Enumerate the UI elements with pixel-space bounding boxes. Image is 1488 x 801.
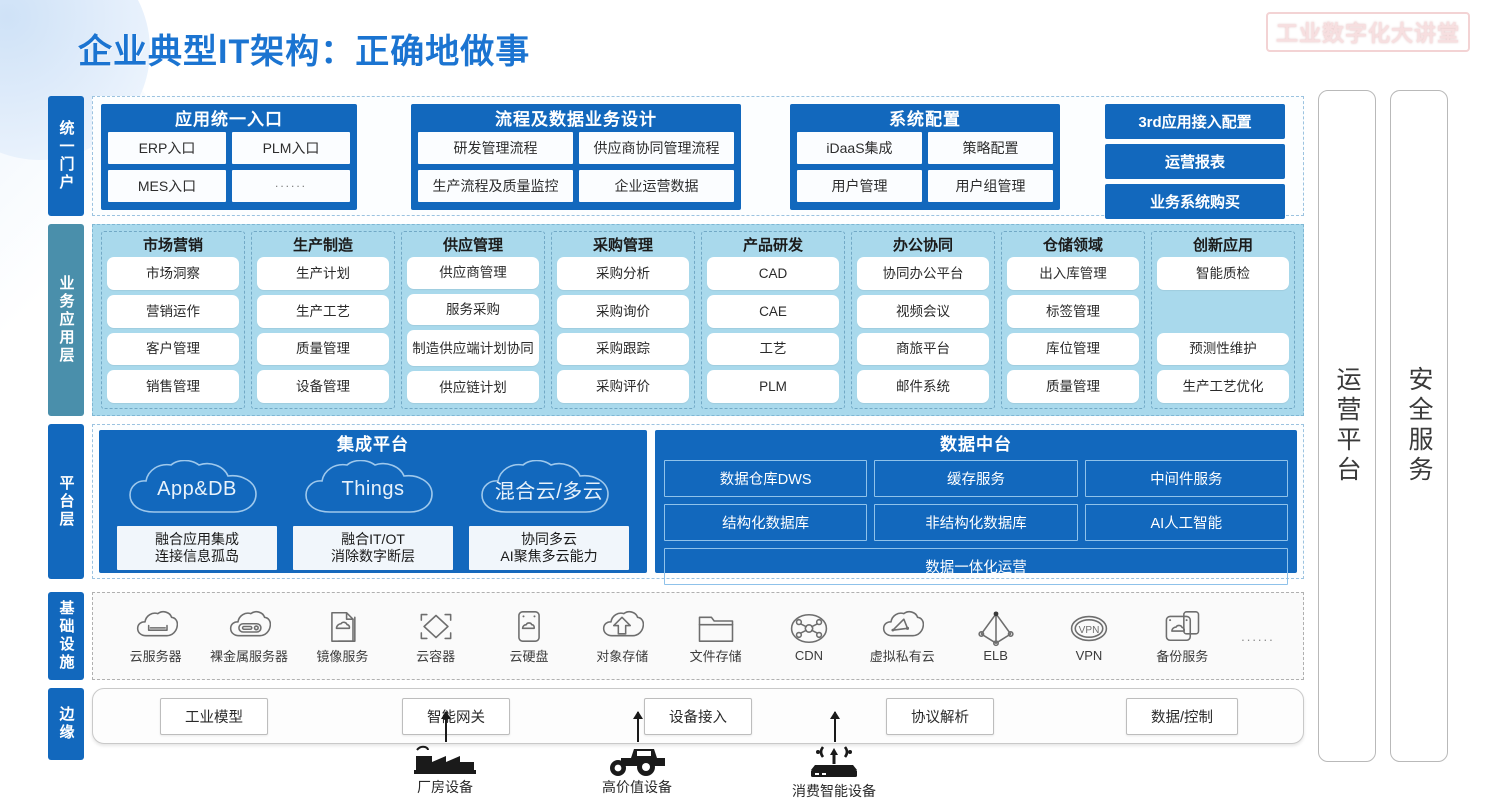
infra-item-label: 备份服务 [1156,646,1208,665]
integration-caption-line: 融合IT/OT [305,531,441,548]
portal-cell[interactable]: 用户管理 [797,170,922,202]
biz-item[interactable]: 服务采购 [407,294,539,326]
portal-card-1: 流程及数据业务设计研发管理流程供应商协同管理流程生产流程及质量监控企业运营数据 [411,104,741,210]
infra-item-1[interactable]: 裸金属服务器 [202,608,295,665]
infra-item-label: 文件存储 [690,646,742,665]
biz-item[interactable]: CAD [707,257,839,290]
biz-item-list: 出入库管理标签管理库位管理质量管理 [1007,257,1139,403]
factory-icon [412,744,478,776]
integration-caption-line: 融合应用集成 [129,531,265,548]
infra-more-dots: ...... [1229,629,1287,644]
third-party-item[interactable]: 3rd应用接入配置 [1105,104,1285,139]
infra-item-label: 裸金属服务器 [210,646,288,665]
infra-item-3[interactable]: 云容器 [389,608,482,665]
edge-box-3[interactable]: 协议解析 [886,698,994,735]
vpc-icon [880,608,924,645]
infra-item-4[interactable]: 云硬盘 [482,608,575,665]
data-hub-cell-2[interactable]: 中间件服务 [1085,460,1288,497]
biz-item[interactable]: 质量管理 [1007,370,1139,403]
edge-slot-0: 工业模型 [93,698,335,735]
cloud-1: Things [298,460,448,518]
edge-device-group: 厂房设备 高价值设备 消费智能设备 [92,744,1304,799]
biz-item[interactable]: CAE [707,295,839,328]
file-storage-icon [694,608,738,645]
cdn-icon [787,610,831,647]
infra-item-label: 云服务器 [130,646,182,665]
biz-item[interactable]: 市场洞察 [107,257,239,290]
device-label: 高价值设备 [602,777,672,797]
biz-item[interactable]: 销售管理 [107,370,239,403]
integration-caption-line: 消除数字断层 [305,548,441,565]
infra-item-10[interactable]: VPNVPN [1042,610,1135,663]
rail-item-1: 业务应用层 [48,224,84,416]
infra-item-label: VPN [1076,648,1103,663]
device-label: 厂房设备 [417,777,473,797]
svg-text:VPN: VPN [1079,625,1100,636]
biz-item[interactable]: 生产工艺优化 [1157,370,1289,403]
biz-item[interactable]: 生产工艺 [257,295,389,328]
third-party-item[interactable]: 业务系统购买 [1105,184,1285,219]
biz-item-list: 市场洞察营销运作客户管理销售管理 [107,257,239,403]
infrastructure-band: 云服务器裸金属服务器镜像服务云容器云硬盘对象存储文件存储CDN虚拟私有云ELBV… [92,592,1304,680]
biz-item[interactable]: 供应商管理 [407,257,539,289]
biz-item-list: 协同办公平台视频会议商旅平台邮件系统 [857,257,989,403]
biz-column-title: 市场营销 [107,235,239,257]
data-hub-cell-0[interactable]: 数据仓库DWS [664,460,867,497]
page-title: 企业典型IT架构：正确地做事 [78,24,530,73]
cloud-disk-icon [507,608,551,645]
cloud-2: 混合云/多云 [474,460,624,518]
biz-column-2: 供应管理供应商管理服务采购制造供应端计划协同供应链计划 [401,231,545,409]
biz-item[interactable]: 视频会议 [857,295,989,328]
portal-cell[interactable]: 生产流程及质量监控 [418,170,573,202]
biz-item[interactable]: 营销运作 [107,295,239,328]
integration-caption-1: 融合IT/OT消除数字断层 [293,526,453,570]
infra-item-8[interactable]: 虚拟私有云 [856,608,949,665]
biz-item-list: 采购分析采购询价采购跟踪采购评价 [557,257,689,403]
integration-platform-title: 集成平台 [99,430,647,460]
biz-item[interactable]: 邮件系统 [857,370,989,403]
data-hub-cell-1[interactable]: 缓存服务 [874,460,1077,497]
edge-slot-3: 协议解析 [819,698,1061,735]
business-layer-band: 市场营销市场洞察营销运作客户管理销售管理生产制造生产计划生产工艺质量管理设备管理… [92,224,1304,416]
infra-item-label: 镜像服务 [316,646,368,665]
data-hub-grid: 数据仓库DWS缓存服务中间件服务结构化数据库非结构化数据库AI人工智能数据一体化… [655,460,1297,585]
integration-caption-0: 融合应用集成连接信息孤岛 [117,526,277,570]
infra-item-11[interactable]: 备份服务 [1136,608,1229,665]
rail-item-0: 统一门户 [48,96,84,216]
data-hub-card: 数据中台 数据仓库DWS缓存服务中间件服务结构化数据库非结构化数据库AI人工智能… [655,430,1297,573]
biz-item[interactable]: 商旅平台 [857,333,989,366]
portal-card-grid: 研发管理流程供应商协同管理流程生产流程及质量监控企业运营数据 [418,132,734,202]
biz-column-0: 市场营销市场洞察营销运作客户管理销售管理 [101,231,245,409]
biz-item[interactable]: 采购询价 [557,295,689,328]
infra-item-7[interactable]: CDN [762,610,855,663]
biz-item[interactable]: 出入库管理 [1007,257,1139,290]
biz-column-title: 办公协同 [857,235,989,257]
infra-item-6[interactable]: 文件存储 [669,608,762,665]
biz-column-6: 仓储领域出入库管理标签管理库位管理质量管理 [1001,231,1145,409]
portal-cell[interactable]: 供应商协同管理流程 [579,132,734,164]
cloud-label: App&DB [157,478,237,501]
integration-caption-line: 协同多云 [481,531,617,548]
biz-item[interactable]: 供应链计划 [407,371,539,403]
biz-column-title: 供应管理 [407,235,539,257]
device-arrow-0 [445,712,447,742]
portal-cell[interactable]: 策略配置 [928,132,1053,164]
biz-column-title: 仓储领域 [1007,235,1139,257]
biz-column-3: 采购管理采购分析采购询价采购跟踪采购评价 [551,231,695,409]
cloud-label: Things [341,478,404,501]
data-hub-title: 数据中台 [655,430,1297,460]
biz-column-1: 生产制造生产计划生产工艺质量管理设备管理 [251,231,395,409]
infra-item-0[interactable]: 云服务器 [109,608,202,665]
biz-column-title: 产品研发 [707,235,839,257]
biz-column-4: 产品研发CADCAE工艺PLM [701,231,845,409]
rail-item-3: 基础设施 [48,592,84,680]
biz-item[interactable]: 客户管理 [107,333,239,366]
elb-icon [974,610,1018,647]
biz-column-5: 办公协同协同办公平台视频会议商旅平台邮件系统 [851,231,995,409]
cloud-label: 混合云/多云 [495,475,604,504]
image-service-icon [320,608,364,645]
portal-card-title: 流程及数据业务设计 [418,108,734,132]
cloud-container-icon [414,608,458,645]
router-icon [801,744,867,780]
brand-logo: 工业数字化大讲堂 [1266,12,1470,52]
tractor-icon [604,744,670,776]
portal-cell[interactable]: iDaaS集成 [797,132,922,164]
infra-item-label: 对象存储 [596,646,648,665]
edge-box-2[interactable]: 设备接入 [644,698,752,735]
infra-item-9[interactable]: ELB [949,610,1042,663]
biz-item[interactable]: 标签管理 [1007,295,1139,328]
portal-cell[interactable]: 研发管理流程 [418,132,573,164]
integration-platform-card: 集成平台 App&DBThings混合云/多云 融合应用集成连接信息孤岛融合IT… [99,430,647,573]
rail-item-2: 平台层 [48,424,84,579]
infra-item-label: 云容器 [416,646,455,665]
biz-item[interactable]: 采购评价 [557,370,689,403]
biz-item[interactable]: 智能质检 [1157,257,1289,290]
cloud-group: App&DBThings混合云/多云 [99,460,647,522]
vpn-icon: VPN [1067,610,1111,647]
biz-item[interactable]: 预测性维护 [1157,333,1289,366]
page-header: 企业典型IT架构：正确地做事 工业数字化大讲堂 [0,0,1488,88]
device-2: 消费智能设备 [759,744,909,801]
biz-item[interactable]: 工艺 [707,333,839,366]
platform-layer-band: 集成平台 App&DBThings混合云/多云 融合应用集成连接信息孤岛融合IT… [92,424,1304,579]
side-panel-security: 安全服务 [1390,90,1448,762]
third-party-column: 3rd应用接入配置运营报表业务系统购买 [1105,104,1285,210]
biz-column-title: 创新应用 [1157,235,1289,257]
portal-card-0: 应用统一入口ERP入口PLM入口MES入口...... [101,104,357,210]
edge-box-1[interactable]: 智能网关 [402,698,510,735]
device-0: 厂房设备 [370,744,520,797]
biz-item-list: 生产计划生产工艺质量管理设备管理 [257,257,389,403]
biz-item-spacer [1157,295,1289,328]
biz-item[interactable]: 库位管理 [1007,333,1139,366]
edge-band: 工业模型智能网关设备接入协议解析数据/控制 [92,688,1304,744]
edge-box-0[interactable]: 工业模型 [160,698,268,735]
integration-caption-line: 连接信息孤岛 [129,548,265,565]
side-panel-operations: 运营平台 [1318,90,1376,762]
data-hub-cell-5[interactable]: AI人工智能 [1085,504,1288,541]
portal-card-grid: iDaaS集成策略配置用户管理用户组管理 [797,132,1053,202]
device-arrow-2 [834,712,836,742]
bare-metal-server-icon [227,608,271,645]
portal-card-grid: ERP入口PLM入口MES入口...... [108,132,350,202]
biz-item[interactable]: PLM [707,370,839,403]
integration-caption-group: 融合应用集成连接信息孤岛融合IT/OT消除数字断层协同多云AI聚焦多云能力 [99,522,647,570]
biz-item[interactable]: 协同办公平台 [857,257,989,290]
device-arrow-1 [637,712,639,742]
data-hub-cell-4[interactable]: 非结构化数据库 [874,504,1077,541]
rail-item-4: 边缘 [48,688,84,760]
biz-item[interactable]: 采购分析 [557,257,689,290]
biz-item[interactable]: 质量管理 [257,333,389,366]
infra-item-2[interactable]: 镜像服务 [296,608,389,665]
backup-service-icon [1160,608,1204,645]
biz-item[interactable]: 制造供应端计划协同 [407,330,539,366]
infra-item-label: CDN [795,648,823,663]
portal-cell[interactable]: PLM入口 [232,132,350,164]
infra-item-label: ELB [983,648,1008,663]
data-hub-cell-3[interactable]: 结构化数据库 [664,504,867,541]
third-party-item[interactable]: 运营报表 [1105,144,1285,179]
portal-cell[interactable]: ...... [232,170,350,202]
infra-item-5[interactable]: 对象存储 [576,608,669,665]
portal-band: 应用统一入口ERP入口PLM入口MES入口......流程及数据业务设计研发管理… [92,96,1304,216]
infra-item-label: 虚拟私有云 [870,646,935,665]
edge-slot-4: 数据/控制 [1061,698,1303,735]
edge-slot-2: 设备接入 [577,698,819,735]
cloud-server-icon [134,608,178,645]
device-label: 消费智能设备 [792,781,876,801]
edge-box-4[interactable]: 数据/控制 [1126,698,1238,735]
portal-card-title: 应用统一入口 [108,108,350,132]
integration-caption-2: 协同多云AI聚焦多云能力 [469,526,629,570]
integration-caption-line: AI聚焦多云能力 [481,548,617,565]
object-storage-icon [600,608,644,645]
biz-column-title: 生产制造 [257,235,389,257]
portal-card-title: 系统配置 [797,108,1053,132]
biz-column-title: 采购管理 [557,235,689,257]
biz-item-list: 智能质检预测性维护生产工艺优化 [1157,257,1289,403]
portal-card-2: 系统配置iDaaS集成策略配置用户管理用户组管理 [790,104,1060,210]
data-hub-wide-cell[interactable]: 数据一体化运营 [664,548,1288,585]
portal-cell[interactable]: MES入口 [108,170,226,202]
portal-cell[interactable]: ERP入口 [108,132,226,164]
infra-item-label: 云硬盘 [509,646,548,665]
biz-column-7: 创新应用智能质检预测性维护生产工艺优化 [1151,231,1295,409]
portal-cell[interactable]: 企业运营数据 [579,170,734,202]
portal-cell[interactable]: 用户组管理 [928,170,1053,202]
edge-slot-1: 智能网关 [335,698,577,735]
biz-item[interactable]: 采购跟踪 [557,333,689,366]
biz-item[interactable]: 生产计划 [257,257,389,290]
biz-item[interactable]: 设备管理 [257,370,389,403]
biz-item-list: CADCAE工艺PLM [707,257,839,403]
device-1: 高价值设备 [562,744,712,797]
cloud-0: App&DB [122,460,272,518]
biz-item-list: 供应商管理服务采购制造供应端计划协同供应链计划 [407,257,539,403]
